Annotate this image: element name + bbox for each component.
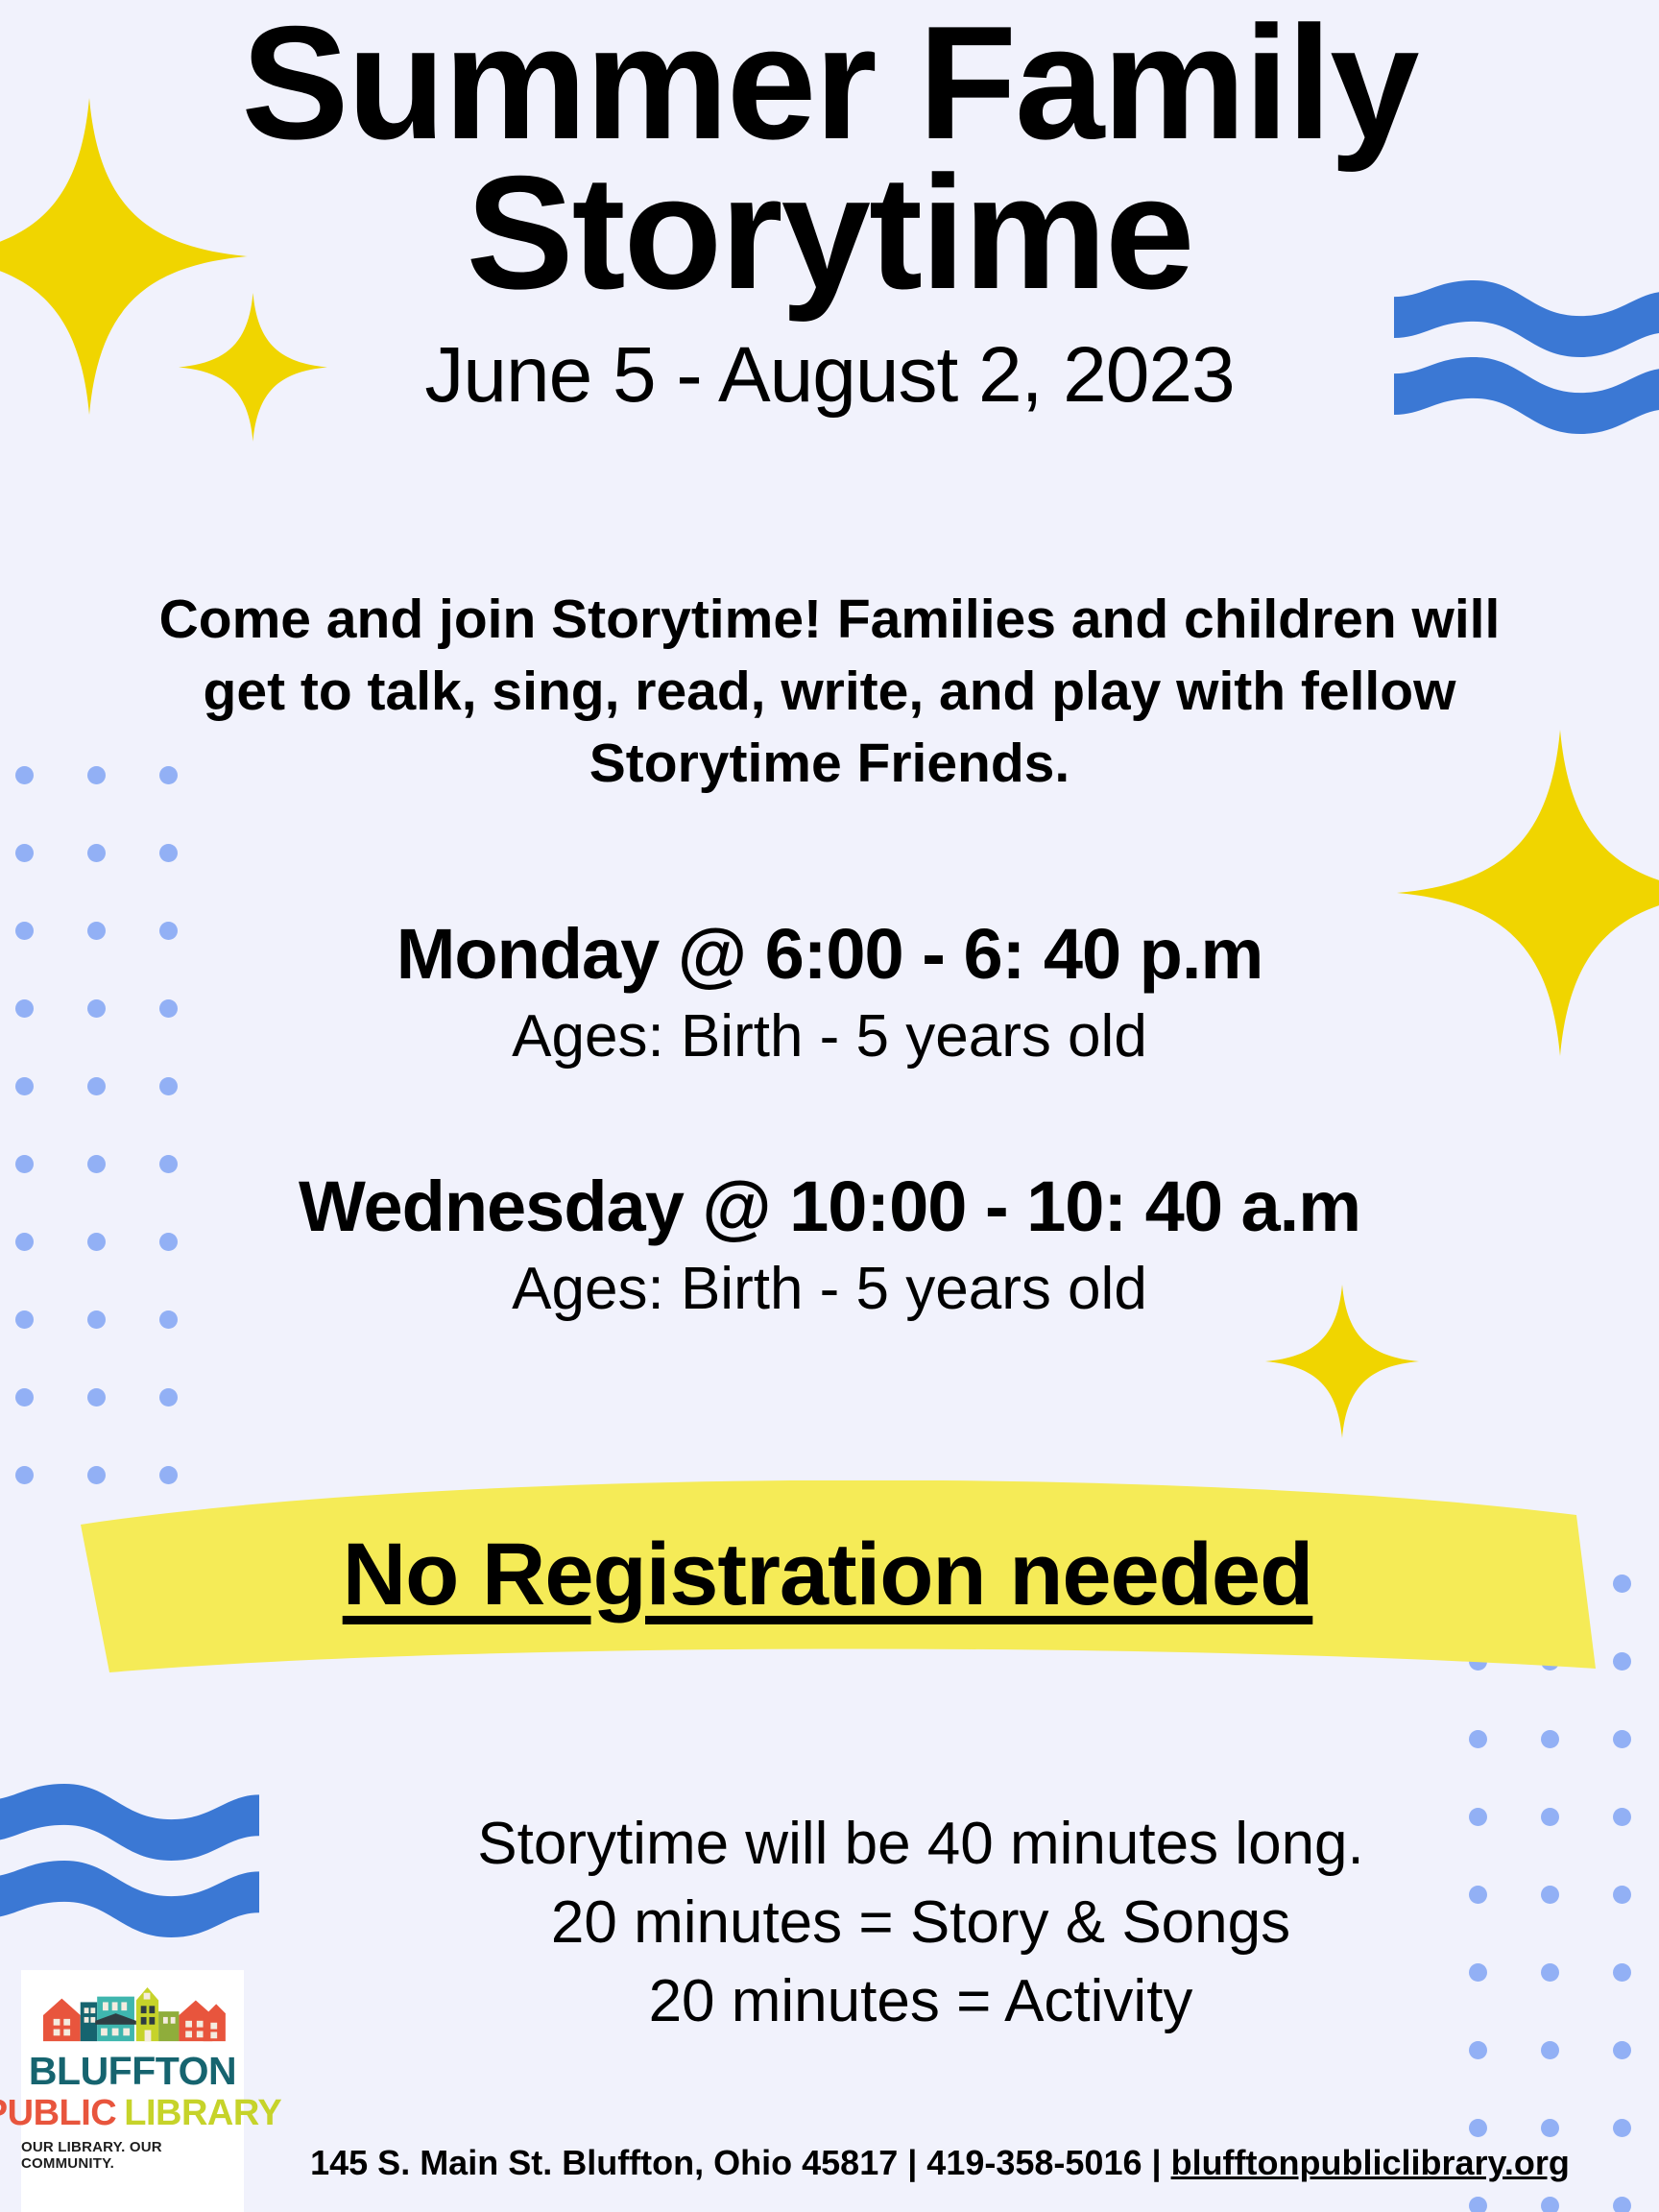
- page-title-line-1: Summer Family: [0, 8, 1659, 157]
- address-text: 145 S. Main St. Bluffton, Ohio 45817 | 4…: [310, 2143, 1170, 2182]
- logo-name-library: LIBRARY: [124, 2095, 281, 2131]
- dot: [1613, 1808, 1631, 1826]
- description-line-3: Storytime Friends.: [29, 728, 1630, 800]
- schedule-ages: Ages: Birth - 5 years old: [0, 1252, 1659, 1327]
- schedule-item-monday: Monday @ 6:00 - 6: 40 p.m Ages: Birth - …: [0, 912, 1659, 1074]
- logo-tagline: OUR LIBRARY. OUR COMMUNITY.: [21, 2139, 244, 2172]
- dot: [1613, 1963, 1631, 1982]
- logo-name-mid: PUBLIC LIBRARY: [0, 2095, 281, 2131]
- dot: [1469, 2119, 1487, 2137]
- banner-label: No Registration needed: [60, 1525, 1596, 1625]
- wave-bottom-left: [0, 1784, 259, 1937]
- schedule-ages: Ages: Birth - 5 years old: [0, 999, 1659, 1074]
- schedule-block: Monday @ 6:00 - 6: 40 p.m Ages: Birth - …: [0, 912, 1659, 1327]
- dot: [15, 1388, 34, 1407]
- dot: [1613, 1730, 1631, 1748]
- schedule-spacer: [0, 1109, 1659, 1165]
- details-line-3: 20 minutes = Activity: [240, 1962, 1601, 2041]
- description-line-1: Come and join Storytime! Families and ch…: [29, 584, 1630, 656]
- dot: [1613, 2197, 1631, 2212]
- houses-icon: [38, 1985, 227, 2045]
- details-line-2: 20 minutes = Story & Songs: [240, 1884, 1601, 1962]
- page-title-line-2: Storytime: [0, 157, 1659, 307]
- dot: [1613, 1652, 1631, 1671]
- logo-name-top: BLUFFTON: [29, 2052, 236, 2091]
- dot: [1469, 2041, 1487, 2059]
- dot: [15, 844, 34, 862]
- poster-canvas: Summer Family Storytime June 5 - August …: [0, 0, 1659, 2212]
- dot: [1541, 1730, 1559, 1748]
- schedule-item-wednesday: Wednesday @ 10:00 - 10: 40 a.m Ages: Bir…: [0, 1165, 1659, 1327]
- dot: [1613, 1886, 1631, 1904]
- schedule-when: Wednesday @ 10:00 - 10: 40 a.m: [0, 1165, 1659, 1248]
- dot: [159, 1388, 178, 1407]
- dot: [1613, 2041, 1631, 2059]
- dot: [1541, 2041, 1559, 2059]
- dot: [1469, 2197, 1487, 2212]
- details-line-1: Storytime will be 40 minutes long.: [240, 1805, 1601, 1884]
- dot: [1541, 2119, 1559, 2137]
- logo-name-public: PUBLIC: [0, 2095, 116, 2131]
- library-logo: BLUFFTON PUBLIC LIBRARY OUR LIBRARY. OUR…: [21, 1970, 244, 2212]
- dot: [87, 844, 106, 862]
- description-block: Come and join Storytime! Families and ch…: [29, 584, 1630, 801]
- dot: [1469, 1730, 1487, 1748]
- dot: [159, 844, 178, 862]
- details-block: Storytime will be 40 minutes long. 20 mi…: [240, 1805, 1601, 2040]
- schedule-when: Monday @ 6:00 - 6: 40 p.m: [0, 912, 1659, 996]
- dot: [1541, 2197, 1559, 2212]
- footer-address: 145 S. Main St. Bluffton, Ohio 45817 | 4…: [240, 2143, 1640, 2183]
- no-registration-banner: No Registration needed: [60, 1480, 1596, 1672]
- dot: [1613, 1575, 1631, 1593]
- description-line-2: get to talk, sing, read, write, and play…: [29, 656, 1630, 728]
- dot: [1613, 2119, 1631, 2137]
- dot: [15, 1466, 34, 1484]
- header-block: Summer Family Storytime June 5 - August …: [0, 8, 1659, 421]
- dot: [87, 1388, 106, 1407]
- website-link[interactable]: blufftonpubliclibrary.org: [1171, 2143, 1570, 2182]
- date-range: June 5 - August 2, 2023: [0, 330, 1659, 421]
